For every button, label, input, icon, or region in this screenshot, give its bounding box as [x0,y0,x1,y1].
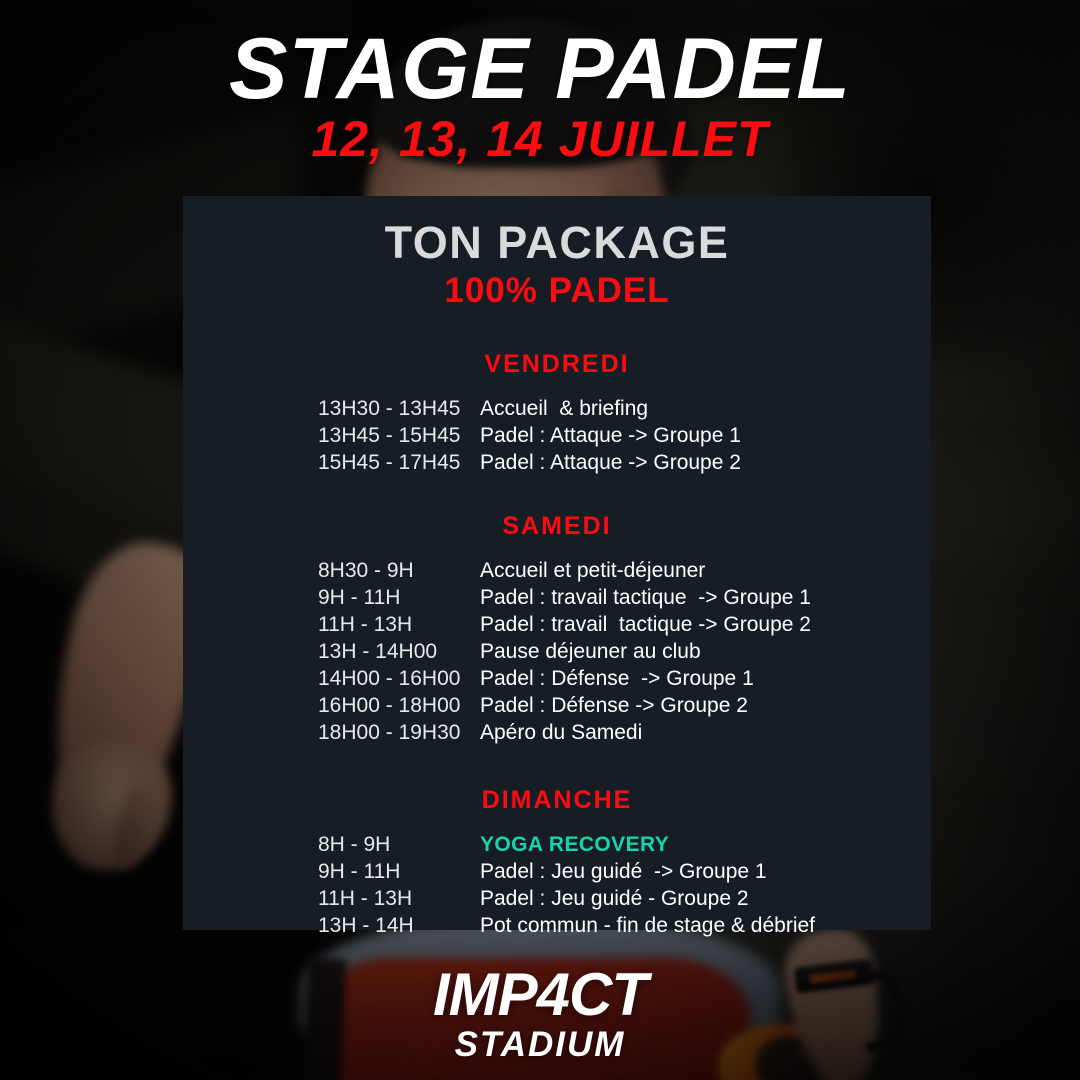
row-time: 15H45 - 17H45 [318,449,480,476]
row-desc: Padel : Défense -> Groupe 1 [480,665,754,692]
row-time: 18H00 - 19H30 [318,719,480,746]
day-heading-dimanche: DIMANCHE [183,786,931,815]
spacer-before-vendredi [183,310,931,346]
brand-logo: IMP4CT STADIUM [0,965,1080,1062]
schedule-row: 18H00 - 19H30 Apéro du Samedi [318,719,931,746]
day-block-vendredi: VENDREDI 13H30 - 13H45 Accueil & briefin… [183,350,931,476]
day-rows-samedi: 8H30 - 9H Accueil et petit-déjeuner 9H -… [183,557,931,746]
row-desc: Apéro du Samedi [480,719,642,746]
row-desc: Padel : travail tactique -> Groupe 1 [480,584,811,611]
schedule-row: 11H - 13H Padel : travail tactique -> Gr… [318,611,931,638]
day-rows-vendredi: 13H30 - 13H45 Accueil & briefing 13H45 -… [183,395,931,476]
row-desc: Padel : Jeu guidé - Groupe 2 [480,885,749,912]
poster-title: STAGE PADEL [0,28,1080,111]
brand-logo-impact-prefix: IMP [433,961,537,1028]
schedule-row: 9H - 11H Padel : Jeu guidé -> Groupe 1 [318,858,931,885]
row-time: 13H30 - 13H45 [318,395,480,422]
row-desc: Pot commun - fin de stage & débrief [480,912,815,939]
row-time: 16H00 - 18H00 [318,692,480,719]
spacer-before-dimanche [183,746,931,782]
day-block-samedi: SAMEDI 8H30 - 9H Accueil et petit-déjeun… [183,512,931,746]
row-desc: Accueil & briefing [480,395,648,422]
row-desc: Accueil et petit-déjeuner [480,557,705,584]
panel-subtitle: 100% PADEL [183,272,931,311]
row-desc-yoga: YOGA RECOVERY [480,831,669,858]
day-rows-dimanche: 8H - 9H YOGA RECOVERY 9H - 11H Padel : J… [183,831,931,939]
schedule-row: 13H - 14H00 Pause déjeuner au club [318,638,931,665]
day-heading-vendredi: VENDREDI [183,350,931,379]
schedule-row: 8H30 - 9H Accueil et petit-déjeuner [318,557,931,584]
schedule-row: 8H - 9H YOGA RECOVERY [318,831,931,858]
poster-header: STAGE PADEL 12, 13, 14 JUILLET [0,28,1080,165]
schedule-panel: TON PACKAGE 100% PADEL VENDREDI 13H30 - … [183,196,931,930]
brand-logo-impact-suffix: CT [569,961,647,1028]
row-time: 13H45 - 15H45 [318,422,480,449]
row-time: 11H - 13H [318,885,480,912]
row-desc: Padel : Attaque -> Groupe 2 [480,449,741,476]
row-time: 9H - 11H [318,584,480,611]
brand-logo-stadium: STADIUM [0,1027,1080,1062]
day-heading-samedi: SAMEDI [183,512,931,541]
row-desc: Padel : Jeu guidé -> Groupe 1 [480,858,767,885]
schedule-row: 9H - 11H Padel : travail tactique -> Gro… [318,584,931,611]
row-time: 13H - 14H [318,912,480,939]
row-time: 9H - 11H [318,858,480,885]
schedule-row: 13H - 14H Pot commun - fin de stage & dé… [318,912,931,939]
schedule-row: 16H00 - 18H00 Padel : Défense -> Groupe … [318,692,931,719]
schedule-row: 14H00 - 16H00 Padel : Défense -> Groupe … [318,665,931,692]
spacer-before-samedi [183,476,931,508]
row-time: 13H - 14H00 [318,638,480,665]
row-desc: Pause déjeuner au club [480,638,701,665]
schedule-row: 15H45 - 17H45 Padel : Attaque -> Groupe … [318,449,931,476]
row-desc: Padel : travail tactique -> Groupe 2 [480,611,811,638]
poster-dates: 12, 13, 14 JUILLET [0,113,1080,166]
row-time: 14H00 - 16H00 [318,665,480,692]
panel-title: TON PACKAGE [183,218,931,268]
schedule-row: 13H30 - 13H45 Accueil & briefing [318,395,931,422]
row-desc: Padel : Attaque -> Groupe 1 [480,422,741,449]
poster-root: STAGE PADEL 12, 13, 14 JUILLET TON PACKA… [0,0,1080,1080]
schedule-row: 11H - 13H Padel : Jeu guidé - Groupe 2 [318,885,931,912]
row-time: 11H - 13H [318,611,480,638]
brand-logo-mark-4: 4 [537,961,569,1028]
schedule-row: 13H45 - 15H45 Padel : Attaque -> Groupe … [318,422,931,449]
row-desc: Padel : Défense -> Groupe 2 [480,692,748,719]
row-time: 8H - 9H [318,831,480,858]
row-time: 8H30 - 9H [318,557,480,584]
day-block-dimanche: DIMANCHE 8H - 9H YOGA RECOVERY 9H - 11H … [183,786,931,939]
brand-logo-impact: IMP4CT [433,965,647,1025]
